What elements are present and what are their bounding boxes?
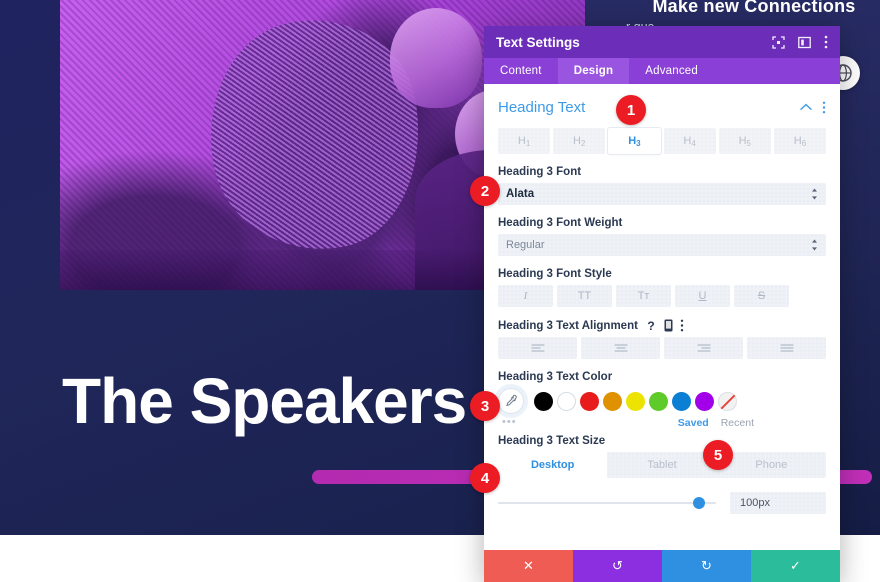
swatch-orange[interactable] bbox=[603, 392, 622, 411]
check-icon[interactable]: ✓ bbox=[751, 550, 840, 582]
callout-1: 1 bbox=[616, 95, 646, 125]
swatch-black[interactable] bbox=[534, 392, 553, 411]
tab-content[interactable]: Content bbox=[484, 58, 558, 84]
h4-label: H bbox=[683, 135, 691, 147]
page-title: The Speakers bbox=[62, 368, 466, 435]
font-style-buttons: I TT Tᴛ U S bbox=[498, 285, 826, 307]
text-size-input[interactable]: 100px bbox=[730, 492, 826, 514]
fullscreen-icon[interactable] bbox=[772, 36, 785, 49]
font-select[interactable]: Alata bbox=[498, 183, 826, 205]
photo-figure-head-1 bbox=[390, 8, 482, 108]
callout-5: 5 bbox=[703, 440, 733, 470]
help-icon[interactable]: ? bbox=[645, 319, 657, 332]
heading-text-section-header: Heading Text bbox=[498, 94, 826, 120]
font-label: Heading 3 Font bbox=[498, 166, 826, 178]
slider-thumb[interactable] bbox=[693, 497, 705, 509]
h2-sub: 2 bbox=[581, 139, 585, 148]
split-view-icon[interactable] bbox=[798, 36, 811, 49]
align-right-icon[interactable] bbox=[664, 337, 743, 359]
modal-title: Text Settings bbox=[496, 35, 772, 50]
heading-level-tabs: H1 H2 H3 H4 H5 H6 bbox=[498, 128, 826, 154]
more-options-icon[interactable] bbox=[824, 35, 828, 49]
strikethrough-icon[interactable]: S bbox=[734, 285, 789, 307]
section-more-options-icon[interactable] bbox=[822, 101, 826, 114]
swatch-red[interactable] bbox=[580, 392, 599, 411]
svg-text:?: ? bbox=[647, 319, 654, 332]
text-size-device-tabs: Desktop Tablet Phone bbox=[498, 452, 826, 478]
swatch-blue[interactable] bbox=[672, 392, 691, 411]
color-tabs: Saved Recent bbox=[498, 417, 826, 429]
italic-icon[interactable]: I bbox=[498, 285, 553, 307]
hero-headline: Make new Connections bbox=[628, 0, 880, 17]
heading-level-h4[interactable]: H4 bbox=[664, 128, 716, 154]
text-settings-modal: Text Settings bbox=[484, 26, 840, 582]
modal-header-icons bbox=[772, 35, 828, 49]
modal-tabs: Content Design Advanced bbox=[484, 58, 840, 84]
text-alignment-label-text: Heading 3 Text Alignment bbox=[498, 320, 638, 332]
modal-footer: ✕ ↺ ↻ ✓ bbox=[484, 550, 840, 582]
callout-4: 4 bbox=[470, 463, 500, 493]
heading-level-h3[interactable]: H3 bbox=[608, 128, 660, 154]
select-arrows-icon bbox=[811, 188, 818, 201]
redo-button[interactable]: ↻ bbox=[662, 550, 751, 582]
h5-sub: 5 bbox=[747, 139, 751, 148]
text-size-value: 100px bbox=[740, 497, 770, 509]
swatch-transparent[interactable] bbox=[718, 392, 737, 411]
text-alignment-label: Heading 3 Text Alignment ? bbox=[498, 319, 826, 332]
mobile-icon[interactable] bbox=[664, 319, 673, 332]
device-tab-tablet[interactable]: Tablet bbox=[607, 452, 716, 478]
h3-label: H bbox=[628, 135, 636, 147]
font-style-label: Heading 3 Font Style bbox=[498, 268, 826, 280]
text-color-label: Heading 3 Text Color bbox=[498, 371, 826, 383]
modal-header: Text Settings bbox=[484, 26, 840, 58]
device-tab-desktop[interactable]: Desktop bbox=[498, 452, 607, 478]
eyedropper-icon[interactable] bbox=[498, 388, 524, 414]
slider-track bbox=[498, 502, 716, 504]
h1-label: H bbox=[518, 135, 526, 147]
uppercase-icon[interactable]: TT bbox=[557, 285, 612, 307]
h1-sub: 1 bbox=[526, 139, 530, 148]
h3-sub: 3 bbox=[636, 139, 640, 148]
text-alignment-options bbox=[498, 337, 826, 359]
align-left-icon[interactable] bbox=[498, 337, 577, 359]
modal-body: Heading Text H1 H2 H3 bbox=[484, 84, 840, 550]
underline-icon[interactable]: U bbox=[675, 285, 730, 307]
font-weight-value: Regular bbox=[506, 239, 811, 251]
callout-2: 2 bbox=[470, 176, 500, 206]
heading-level-h1[interactable]: H1 bbox=[498, 128, 550, 154]
cancel-button[interactable]: ✕ bbox=[484, 550, 573, 582]
screenshot-root: Make new Connections r qua. r qua. The S… bbox=[0, 0, 880, 582]
text-size-slider[interactable] bbox=[498, 496, 716, 510]
callout-3: 3 bbox=[470, 391, 500, 421]
device-tab-phone[interactable]: Phone bbox=[717, 452, 826, 478]
align-justify-icon[interactable] bbox=[747, 337, 826, 359]
saved-colors-tab[interactable]: Saved bbox=[678, 417, 709, 429]
color-more-dots[interactable]: ••• bbox=[502, 416, 517, 428]
undo-button[interactable]: ↺ bbox=[573, 550, 662, 582]
heading-level-h2[interactable]: H2 bbox=[553, 128, 605, 154]
alignment-more-options-icon[interactable] bbox=[680, 319, 684, 332]
tab-advanced[interactable]: Advanced bbox=[629, 58, 714, 84]
heading-level-h6[interactable]: H6 bbox=[774, 128, 826, 154]
text-size-label: Heading 3 Text Size bbox=[498, 435, 826, 447]
chevron-up-icon[interactable] bbox=[800, 103, 812, 111]
swatch-purple[interactable] bbox=[695, 392, 714, 411]
select-arrows-icon bbox=[811, 239, 818, 252]
h4-sub: 4 bbox=[691, 139, 695, 148]
small-caps-icon[interactable]: Tᴛ bbox=[616, 285, 671, 307]
swatch-white[interactable] bbox=[557, 392, 576, 411]
swatch-green[interactable] bbox=[649, 392, 668, 411]
font-weight-select[interactable]: Regular bbox=[498, 234, 826, 256]
h6-label: H bbox=[794, 135, 802, 147]
recent-colors-tab[interactable]: Recent bbox=[721, 417, 754, 429]
h5-label: H bbox=[739, 135, 747, 147]
swatch-yellow[interactable] bbox=[626, 392, 645, 411]
h2-label: H bbox=[573, 135, 581, 147]
text-color-swatches bbox=[498, 388, 826, 414]
font-weight-label: Heading 3 Font Weight bbox=[498, 217, 826, 229]
align-center-icon[interactable] bbox=[581, 337, 660, 359]
tab-design[interactable]: Design bbox=[558, 58, 630, 84]
h6-sub: 6 bbox=[802, 139, 806, 148]
font-select-value: Alata bbox=[506, 188, 811, 200]
text-size-slider-row: 100px bbox=[498, 492, 826, 514]
heading-level-h5[interactable]: H5 bbox=[719, 128, 771, 154]
